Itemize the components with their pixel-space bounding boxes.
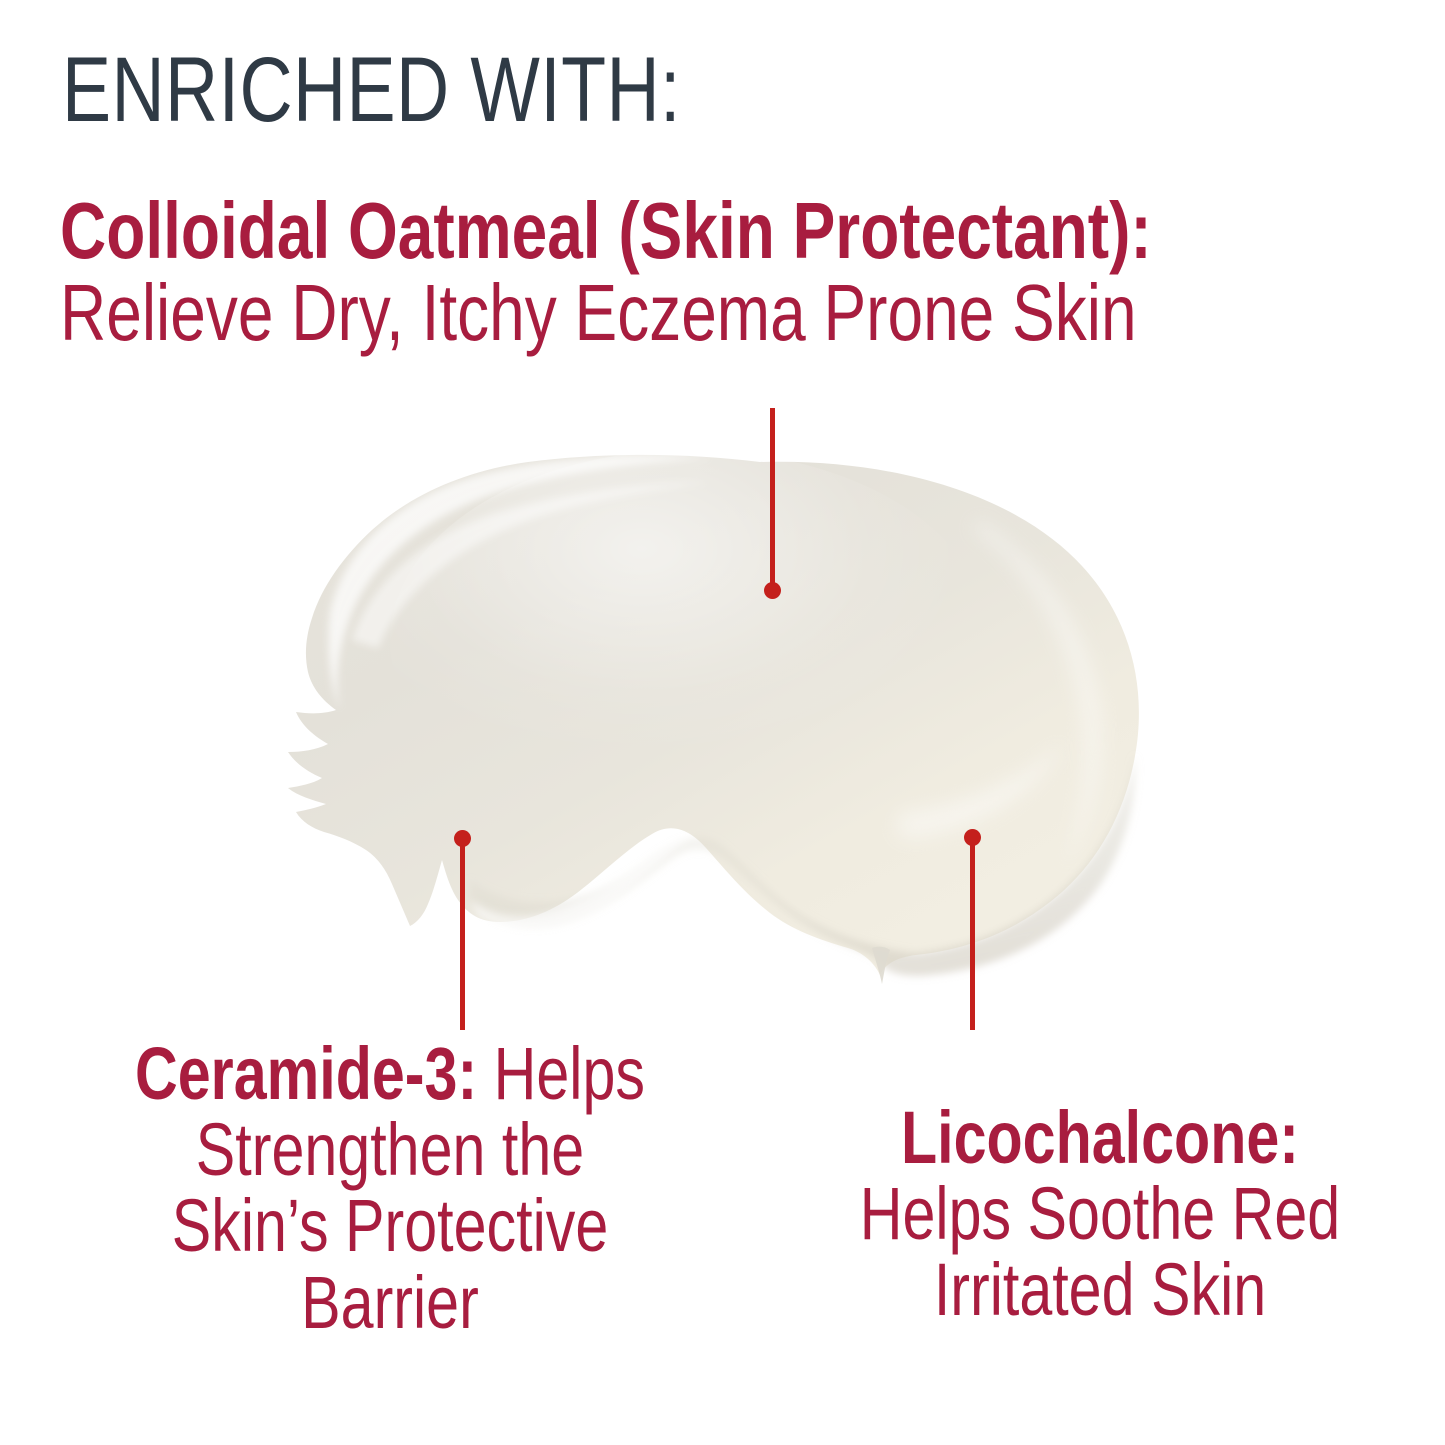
ingredient-benefit-ceramide-3-line-3: Barrier xyxy=(86,1265,694,1341)
ingredient-benefit-licochalcone-line-1: Helps Soothe Red xyxy=(828,1176,1372,1252)
page-title: ENRICHED WITH: xyxy=(62,44,681,136)
ingredient-headline-ceramide-3: Ceramide-3: Helps xyxy=(86,1036,694,1112)
ingredient-block-ceramide-3: Ceramide-3: Helps Strengthen the Skin’s … xyxy=(10,1036,770,1341)
ingredient-benefit-ceramide-3-line-1: Strengthen the xyxy=(86,1112,694,1188)
ingredient-block-colloidal-oatmeal: Colloidal Oatmeal (Skin Protectant): Rel… xyxy=(60,190,1425,353)
ingredient-name-ceramide-3: Ceramide-3: xyxy=(135,1032,477,1115)
ingredient-benefit-licochalcone-line-2: Irritated Skin xyxy=(828,1252,1372,1328)
callout-line xyxy=(970,837,975,1030)
ingredient-benefit-colloidal-oatmeal-line-1: Relieve Dry, Itchy Eczema Prone Skin xyxy=(60,272,1152,354)
callout-dot xyxy=(454,830,471,847)
ingredient-benefit-ceramide-3-line-2: Skin’s Protective xyxy=(86,1188,694,1264)
callout-dot xyxy=(964,829,981,846)
callout-line xyxy=(770,408,775,590)
ingredient-benefit-ceramide-3-lead: Helps xyxy=(494,1032,645,1115)
callout-line xyxy=(460,838,465,1030)
ingredient-name-colloidal-oatmeal: Colloidal Oatmeal (Skin Protectant): xyxy=(60,190,1152,272)
enriched-with-infographic: ENRICHED WITH: Colloidal Oatmeal (Skin P… xyxy=(0,0,1445,1445)
ingredient-name-licochalcone: Licochalcone: xyxy=(828,1100,1372,1176)
ingredient-block-licochalcone: Licochalcone: Helps Soothe Red Irritated… xyxy=(760,1100,1440,1329)
callout-dot xyxy=(764,582,781,599)
